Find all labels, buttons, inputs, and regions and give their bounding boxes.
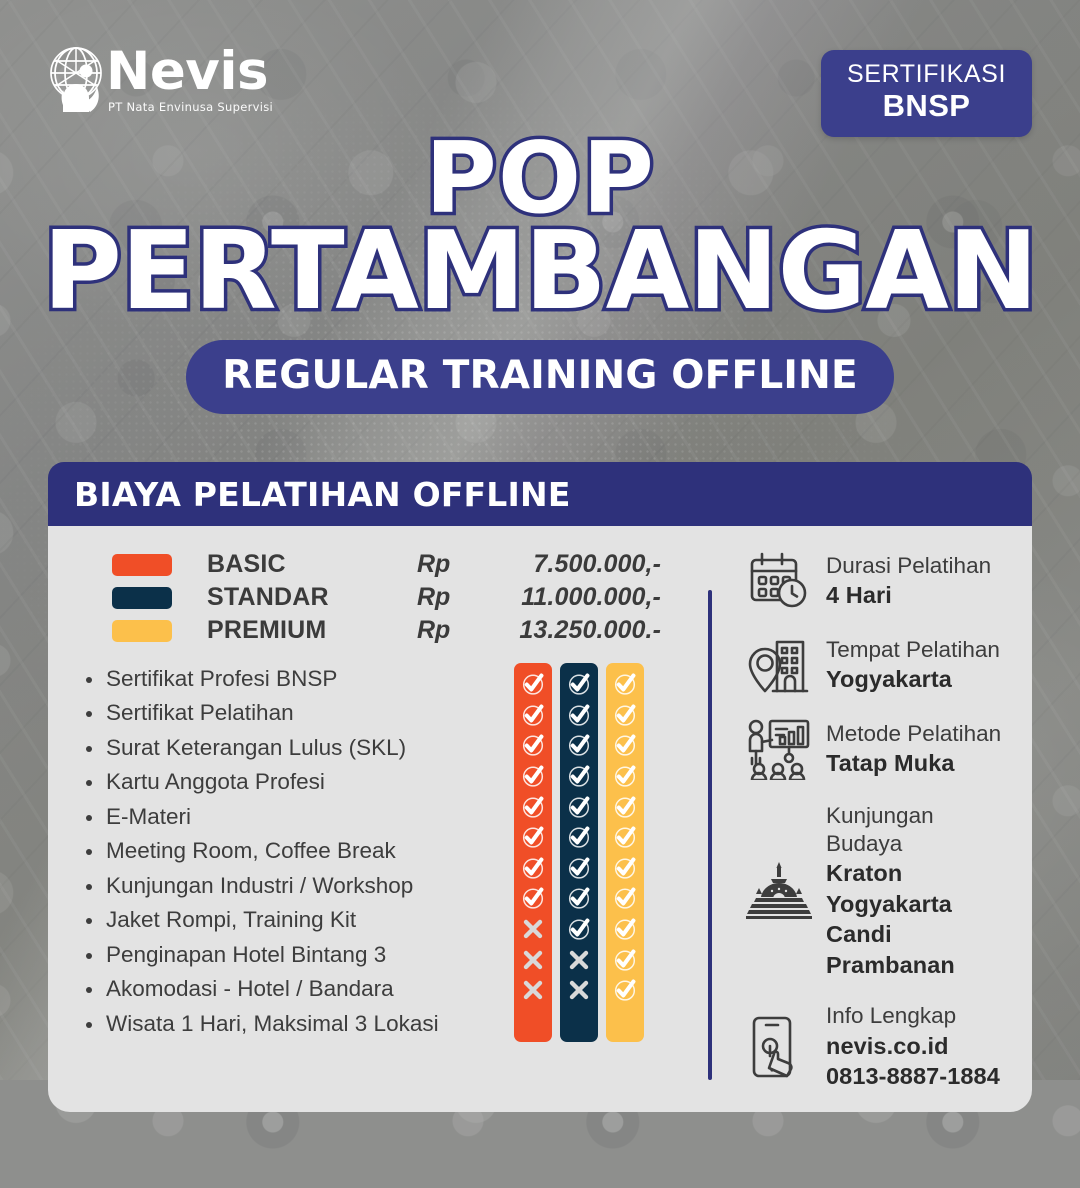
hero-subtitle-pill: REGULAR TRAINING OFFLINE — [186, 340, 894, 414]
check-icon — [612, 855, 638, 881]
pricing-left-column: BASICRp7.500.000,-STANDARRp11.000.000,-P… — [78, 548, 698, 1092]
matrix-cell-excluded — [560, 944, 598, 975]
feature-item: Wisata 1 Hari, Maksimal 3 Lokasi — [78, 1008, 510, 1039]
feature-item: Kunjungan Industri / Workshop — [78, 870, 510, 901]
info-label: Durasi Pelatihan — [826, 552, 991, 580]
matrix-cell-included — [606, 700, 644, 731]
matrix-cell-included — [606, 944, 644, 975]
feature-item: Penginapan Hotel Bintang 3 — [78, 939, 510, 970]
feature-item: E-Materi — [78, 801, 510, 832]
check-icon — [566, 824, 592, 850]
matrix-cell-included — [606, 791, 644, 822]
check-icon — [612, 671, 638, 697]
info-value: nevis.co.id — [826, 1031, 1000, 1062]
matrix-cell-included — [606, 730, 644, 761]
pricing-card-title: BIAYA PELATIHAN OFFLINE — [74, 475, 1032, 514]
info-label: Metode Pelatihan — [826, 720, 1001, 748]
tier-price: 11.000.000,- — [465, 583, 661, 612]
check-icon — [520, 885, 546, 911]
check-icon — [566, 885, 592, 911]
info-text: Kunjungan BudayaKraton YogyakartaCandi P… — [816, 802, 1006, 980]
matrix-cell-included — [514, 853, 552, 884]
brand-logo: Nevis PT Nata Envinusa Supervisi — [46, 44, 273, 114]
check-icon — [566, 916, 592, 942]
info-row: Metode PelatihanTatap Muka — [742, 718, 1006, 780]
feature-item: Kartu Anggota Profesi — [78, 766, 510, 797]
info-panel: Durasi Pelatihan4 HariTempat PelatihanYo… — [712, 548, 1006, 1092]
info-text: Metode PelatihanTatap Muka — [816, 720, 1001, 779]
matrix-cell-included — [560, 700, 598, 731]
globe-person-logo-icon — [46, 44, 112, 114]
check-icon — [612, 794, 638, 820]
feature-item: Jaket Rompi, Training Kit — [78, 904, 510, 935]
feature-list: Sertifikat Profesi BNSPSertifikat Pelati… — [78, 663, 510, 1042]
info-label: Info Lengkap — [826, 1002, 1000, 1030]
tier-name: BASIC — [207, 550, 417, 579]
tier-color-swatch — [112, 620, 172, 642]
matrix-cell-included — [606, 975, 644, 1006]
info-value: Yogyakarta — [826, 664, 1000, 695]
hero-title-line-2: PERTAMBANGAN — [0, 220, 1080, 324]
tier-row: PREMIUMRp13.250.000.- — [112, 614, 698, 647]
pricing-card-header: BIAYA PELATIHAN OFFLINE — [48, 462, 1032, 526]
features-and-matrix: Sertifikat Profesi BNSPSertifikat Pelati… — [78, 663, 698, 1042]
temple-icon — [742, 862, 816, 920]
check-icon — [612, 824, 638, 850]
phone-tap-icon — [742, 1016, 816, 1078]
check-icon — [520, 824, 546, 850]
matrix-cell-included — [606, 914, 644, 945]
info-value: Tatap Muka — [826, 748, 1001, 779]
feature-item: Sertifikat Pelatihan — [78, 697, 510, 728]
tier-row: STANDARRp11.000.000,- — [112, 581, 698, 614]
check-icon — [520, 855, 546, 881]
check-icon — [612, 947, 638, 973]
tier-currency: Rp — [417, 583, 465, 612]
info-label: Tempat Pelatihan — [826, 636, 1000, 664]
tier-name: STANDAR — [207, 583, 417, 612]
matrix-cell-included — [514, 791, 552, 822]
matrix-cell-included — [514, 822, 552, 853]
pricing-card-body: BASICRp7.500.000,-STANDARRp11.000.000,-P… — [48, 526, 1032, 1112]
brand-name: Nevis — [106, 48, 268, 96]
cross-icon — [520, 977, 546, 1003]
info-text: Info Lengkapnevis.co.id0813-8887-1884 — [816, 1002, 1000, 1091]
matrix-cell-included — [514, 883, 552, 914]
check-icon — [612, 885, 638, 911]
matrix-cell-included — [606, 761, 644, 792]
info-row: Durasi Pelatihan4 Hari — [742, 550, 1006, 612]
info-value-secondary: Candi Prambanan — [826, 919, 1006, 980]
matrix-cell-excluded — [514, 944, 552, 975]
matrix-cell-included — [560, 761, 598, 792]
location-building-icon — [742, 634, 816, 696]
cross-icon — [566, 977, 592, 1003]
cross-icon — [566, 947, 592, 973]
info-row: Tempat PelatihanYogyakarta — [742, 634, 1006, 696]
tier-currency: Rp — [417, 616, 465, 645]
check-icon — [566, 794, 592, 820]
check-icon — [520, 671, 546, 697]
pricing-card: BIAYA PELATIHAN OFFLINE BASICRp7.500.000… — [48, 462, 1032, 1112]
badge-line-1: SERTIFIKASI — [847, 61, 1006, 89]
cross-icon — [520, 916, 546, 942]
matrix-cell-included — [560, 730, 598, 761]
certification-badge: SERTIFIKASI BNSP — [821, 50, 1032, 137]
check-icon — [566, 763, 592, 789]
info-row: Info Lengkapnevis.co.id0813-8887-1884 — [742, 1002, 1006, 1091]
check-icon — [612, 977, 638, 1003]
check-icon — [520, 794, 546, 820]
tier-price: 13.250.000.- — [465, 616, 661, 645]
tier-comparison-matrix — [514, 663, 644, 1042]
info-row: Kunjungan BudayaKraton YogyakartaCandi P… — [742, 802, 1006, 980]
info-text: Durasi Pelatihan4 Hari — [816, 552, 991, 611]
info-text: Tempat PelatihanYogyakarta — [816, 636, 1000, 695]
check-icon — [612, 702, 638, 728]
matrix-cell-included — [560, 914, 598, 945]
feature-item: Surat Keterangan Lulus (SKL) — [78, 732, 510, 763]
calendar-clock-icon — [742, 550, 816, 612]
matrix-cell-included — [560, 883, 598, 914]
tier-currency: Rp — [417, 550, 465, 579]
matrix-column-basic — [514, 663, 552, 1042]
check-icon — [520, 702, 546, 728]
info-label: Kunjungan Budaya — [826, 802, 1006, 858]
matrix-cell-included — [560, 669, 598, 700]
matrix-cell-included — [560, 853, 598, 884]
matrix-cell-included — [606, 669, 644, 700]
check-icon — [612, 732, 638, 758]
hero-section: POP PERTAMBANGAN REGULAR TRAINING OFFLIN… — [0, 132, 1080, 414]
matrix-cell-included — [606, 853, 644, 884]
check-icon — [520, 732, 546, 758]
feature-item: Meeting Room, Coffee Break — [78, 835, 510, 866]
matrix-column-standar — [560, 663, 598, 1042]
matrix-column-premium — [606, 663, 644, 1042]
check-icon — [566, 732, 592, 758]
matrix-cell-included — [560, 822, 598, 853]
matrix-cell-included — [514, 700, 552, 731]
info-value: 4 Hari — [826, 580, 991, 611]
matrix-cell-excluded — [560, 975, 598, 1006]
matrix-cell-excluded — [514, 975, 552, 1006]
matrix-cell-included — [606, 883, 644, 914]
check-icon — [612, 916, 638, 942]
tier-color-swatch — [112, 554, 172, 576]
info-value-secondary: 0813-8887-1884 — [826, 1061, 1000, 1092]
check-icon — [566, 702, 592, 728]
info-value: Kraton Yogyakarta — [826, 858, 1006, 919]
badge-line-2: BNSP — [847, 89, 1006, 123]
tier-color-swatch — [112, 587, 172, 609]
tier-name: PREMIUM — [207, 616, 417, 645]
matrix-cell-included — [514, 669, 552, 700]
presenter-audience-icon — [742, 718, 816, 780]
cross-icon — [520, 947, 546, 973]
matrix-cell-excluded — [514, 914, 552, 945]
check-icon — [566, 671, 592, 697]
check-icon — [612, 763, 638, 789]
matrix-cell-included — [560, 791, 598, 822]
check-icon — [566, 855, 592, 881]
matrix-cell-included — [514, 761, 552, 792]
check-icon — [520, 763, 546, 789]
tier-price: 7.500.000,- — [465, 550, 661, 579]
tier-row: BASICRp7.500.000,- — [112, 548, 698, 581]
tier-price-list: BASICRp7.500.000,-STANDARRp11.000.000,-P… — [112, 548, 698, 647]
matrix-cell-included — [606, 822, 644, 853]
brand-tagline: PT Nata Envinusa Supervisi — [106, 100, 273, 114]
feature-item: Akomodasi - Hotel / Bandara — [78, 973, 510, 1004]
feature-item: Sertifikat Profesi BNSP — [78, 663, 510, 694]
matrix-cell-included — [514, 730, 552, 761]
